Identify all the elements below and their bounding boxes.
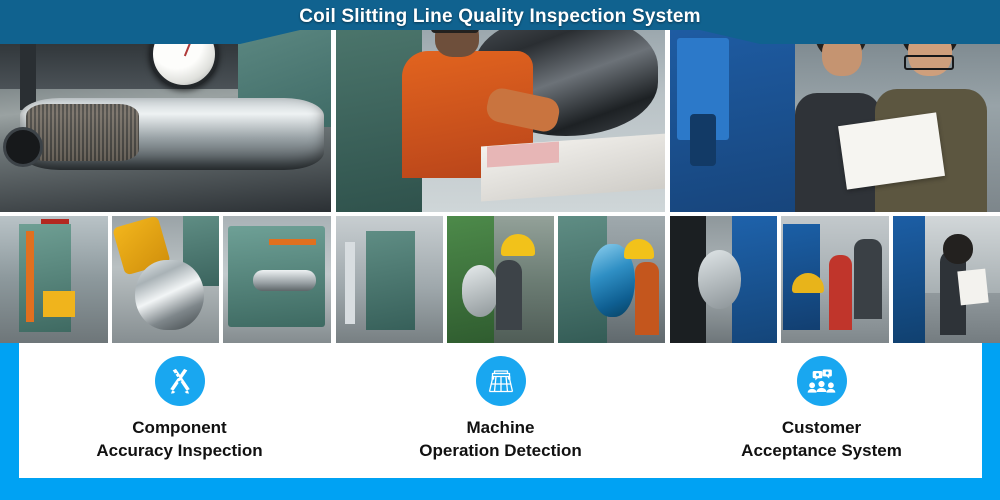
- feature-label: Machine Operation Detection: [419, 417, 581, 462]
- feature-label-line1: Machine: [466, 418, 534, 437]
- thumbnail-blue-coil-recoiler: [558, 216, 665, 345]
- feature-panel: Component Accuracy Inspection: [0, 343, 1000, 500]
- photo-group-customer-acceptance-system: [670, 0, 1000, 345]
- thumbnail-workshop-hall: [336, 216, 443, 345]
- feature-machine-operation-detection[interactable]: Machine Operation Detection: [340, 343, 661, 478]
- photo-row-thumbnails: [0, 216, 331, 345]
- feature-label: Component Accuracy Inspection: [96, 417, 262, 462]
- feature-label: Customer Acceptance System: [741, 417, 902, 462]
- title-banner: Coil Slitting Line Quality Inspection Sy…: [0, 0, 1000, 44]
- panel-accent-right: [982, 343, 1000, 500]
- panel-accent-bottom: [0, 478, 1000, 500]
- photo-mosaic: [0, 0, 1000, 345]
- thumbnail-slitter-shaft: [223, 216, 331, 345]
- feature-label-line1: Customer: [782, 418, 861, 437]
- feature-label-line2: Acceptance System: [741, 440, 902, 463]
- photo-row-thumbnails: [670, 216, 1000, 345]
- photo-group-component-accuracy-inspection: [0, 0, 331, 345]
- feature-component-accuracy-inspection[interactable]: Component Accuracy Inspection: [19, 343, 340, 478]
- inspection-report-paper: [838, 112, 945, 189]
- eyeglasses-icon: [904, 55, 954, 70]
- pencil-ruler-icon: [155, 356, 205, 406]
- feature-label-line1: Component: [132, 418, 226, 437]
- thumbnail-machine-cabinet: [670, 216, 777, 345]
- poster-canvas: Coil Slitting Line Quality Inspection Sy…: [0, 0, 1000, 500]
- panel-accent-left: [0, 343, 19, 500]
- feature-customer-acceptance-system[interactable]: Customer Acceptance System: [661, 343, 982, 478]
- thumbnail-slitting-line: [0, 216, 108, 345]
- photo-group-machine-operation-detection: [336, 0, 665, 345]
- feature-list: Component Accuracy Inspection: [19, 343, 982, 478]
- feature-label-line2: Accuracy Inspection: [96, 440, 262, 463]
- machine-ports: [690, 114, 716, 166]
- customer-chat-icon: [797, 356, 847, 406]
- thumbnail-engineer-with-documents: [893, 216, 1000, 345]
- thumbnail-coil-on-mandrel: [112, 216, 220, 345]
- thumbnail-worker-helmet: [447, 216, 554, 345]
- feature-label-line2: Operation Detection: [419, 440, 581, 463]
- machine-frame-icon: [476, 356, 526, 406]
- coil-windings: [26, 104, 139, 161]
- page-title: Coil Slitting Line Quality Inspection Sy…: [0, 0, 1000, 36]
- thumbnail-control-panel-staff: [781, 216, 888, 345]
- steel-sheet: [481, 133, 665, 201]
- photo-row-thumbnails: [336, 216, 665, 345]
